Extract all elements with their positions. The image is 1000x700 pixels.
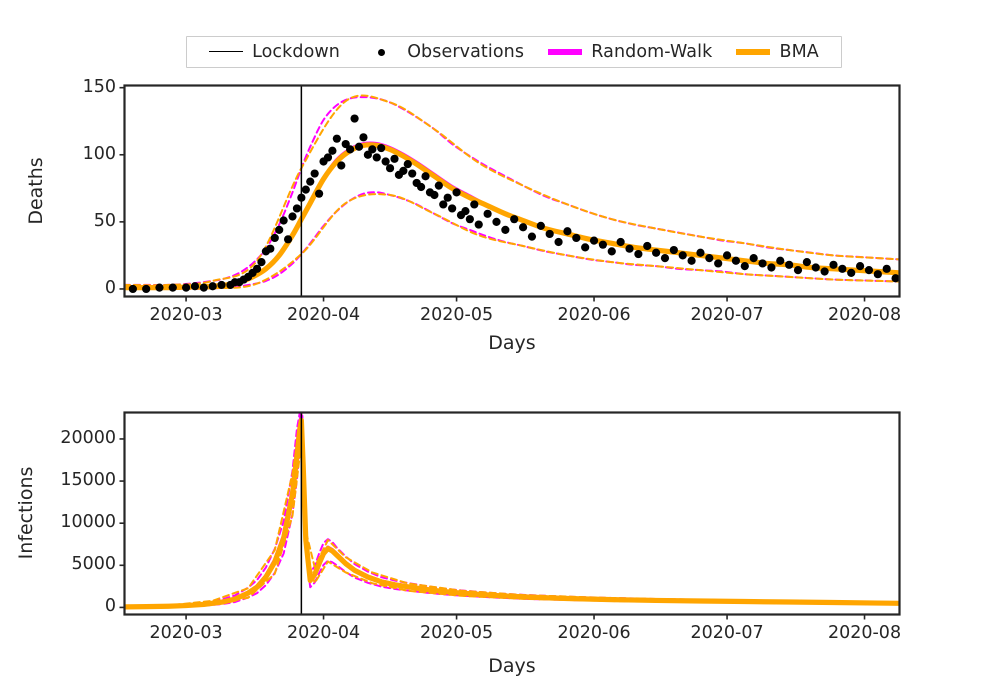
observation-dot-icon <box>364 45 398 59</box>
legend-item-random-walk: Random-Walk <box>548 42 712 62</box>
x-tick-label: 2020-05 <box>397 305 517 325</box>
y-tick-label: 5000 <box>6 554 116 574</box>
y-tick-label: 150 <box>6 77 116 97</box>
legend-label-random-walk: Random-Walk <box>591 42 712 62</box>
x-axis-label-days-top: Days <box>362 332 662 354</box>
lockdown-line-icon <box>209 45 243 59</box>
legend-item-bma: BMA <box>736 42 818 62</box>
legend: Lockdown Observations Random-Walk BMA <box>186 36 842 68</box>
y-tick-label: 10000 <box>6 512 116 532</box>
legend-label-bma: BMA <box>779 42 818 62</box>
bma-line-icon <box>736 45 770 59</box>
y-tick-label: 100 <box>6 144 116 164</box>
y-tick-label: 0 <box>6 278 116 298</box>
x-tick-label: 2020-07 <box>667 305 787 325</box>
legend-item-observations: Observations <box>364 42 524 62</box>
x-tick-label: 2020-08 <box>805 623 925 643</box>
x-tick-label: 2020-03 <box>126 623 246 643</box>
y-tick-label: 20000 <box>6 428 116 448</box>
x-tick-label: 2020-06 <box>534 623 654 643</box>
y-tick-label: 0 <box>6 596 116 616</box>
x-tick-label: 2020-04 <box>264 623 384 643</box>
x-tick-label: 2020-05 <box>397 623 517 643</box>
x-tick-label: 2020-06 <box>534 305 654 325</box>
x-axis-label-days-bottom: Days <box>362 655 662 677</box>
legend-item-lockdown: Lockdown <box>209 42 340 62</box>
x-tick-label: 2020-07 <box>667 623 787 643</box>
legend-label-observations: Observations <box>407 42 524 62</box>
y-tick-label: 15000 <box>6 470 116 490</box>
legend-label-lockdown: Lockdown <box>252 42 340 62</box>
random-walk-line-icon <box>548 45 582 59</box>
x-tick-label: 2020-04 <box>264 305 384 325</box>
x-tick-label: 2020-08 <box>805 305 925 325</box>
y-tick-label: 50 <box>6 211 116 231</box>
x-tick-label: 2020-03 <box>126 305 246 325</box>
